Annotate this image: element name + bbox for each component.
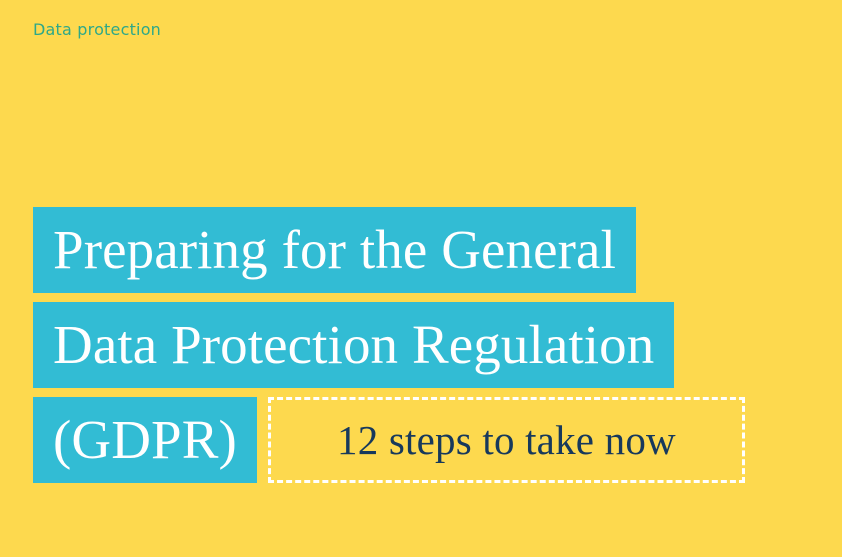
title-band-line-2: Data Protection Regulation	[33, 302, 674, 388]
title-band-line-1: Preparing for the General	[33, 207, 636, 293]
subtitle-text: 12 steps to take now	[337, 416, 676, 464]
subtitle-dashed-box: 12 steps to take now	[268, 397, 745, 483]
title-row-3: (GDPR) 12 steps to take now	[33, 397, 823, 483]
title-band-line-3: (GDPR)	[33, 397, 257, 483]
title-row-1: Preparing for the General	[33, 207, 823, 293]
title-stack: Preparing for the General Data Protectio…	[33, 207, 823, 483]
kicker-label: Data protection	[33, 19, 161, 41]
title-row-2: Data Protection Regulation	[33, 302, 823, 388]
